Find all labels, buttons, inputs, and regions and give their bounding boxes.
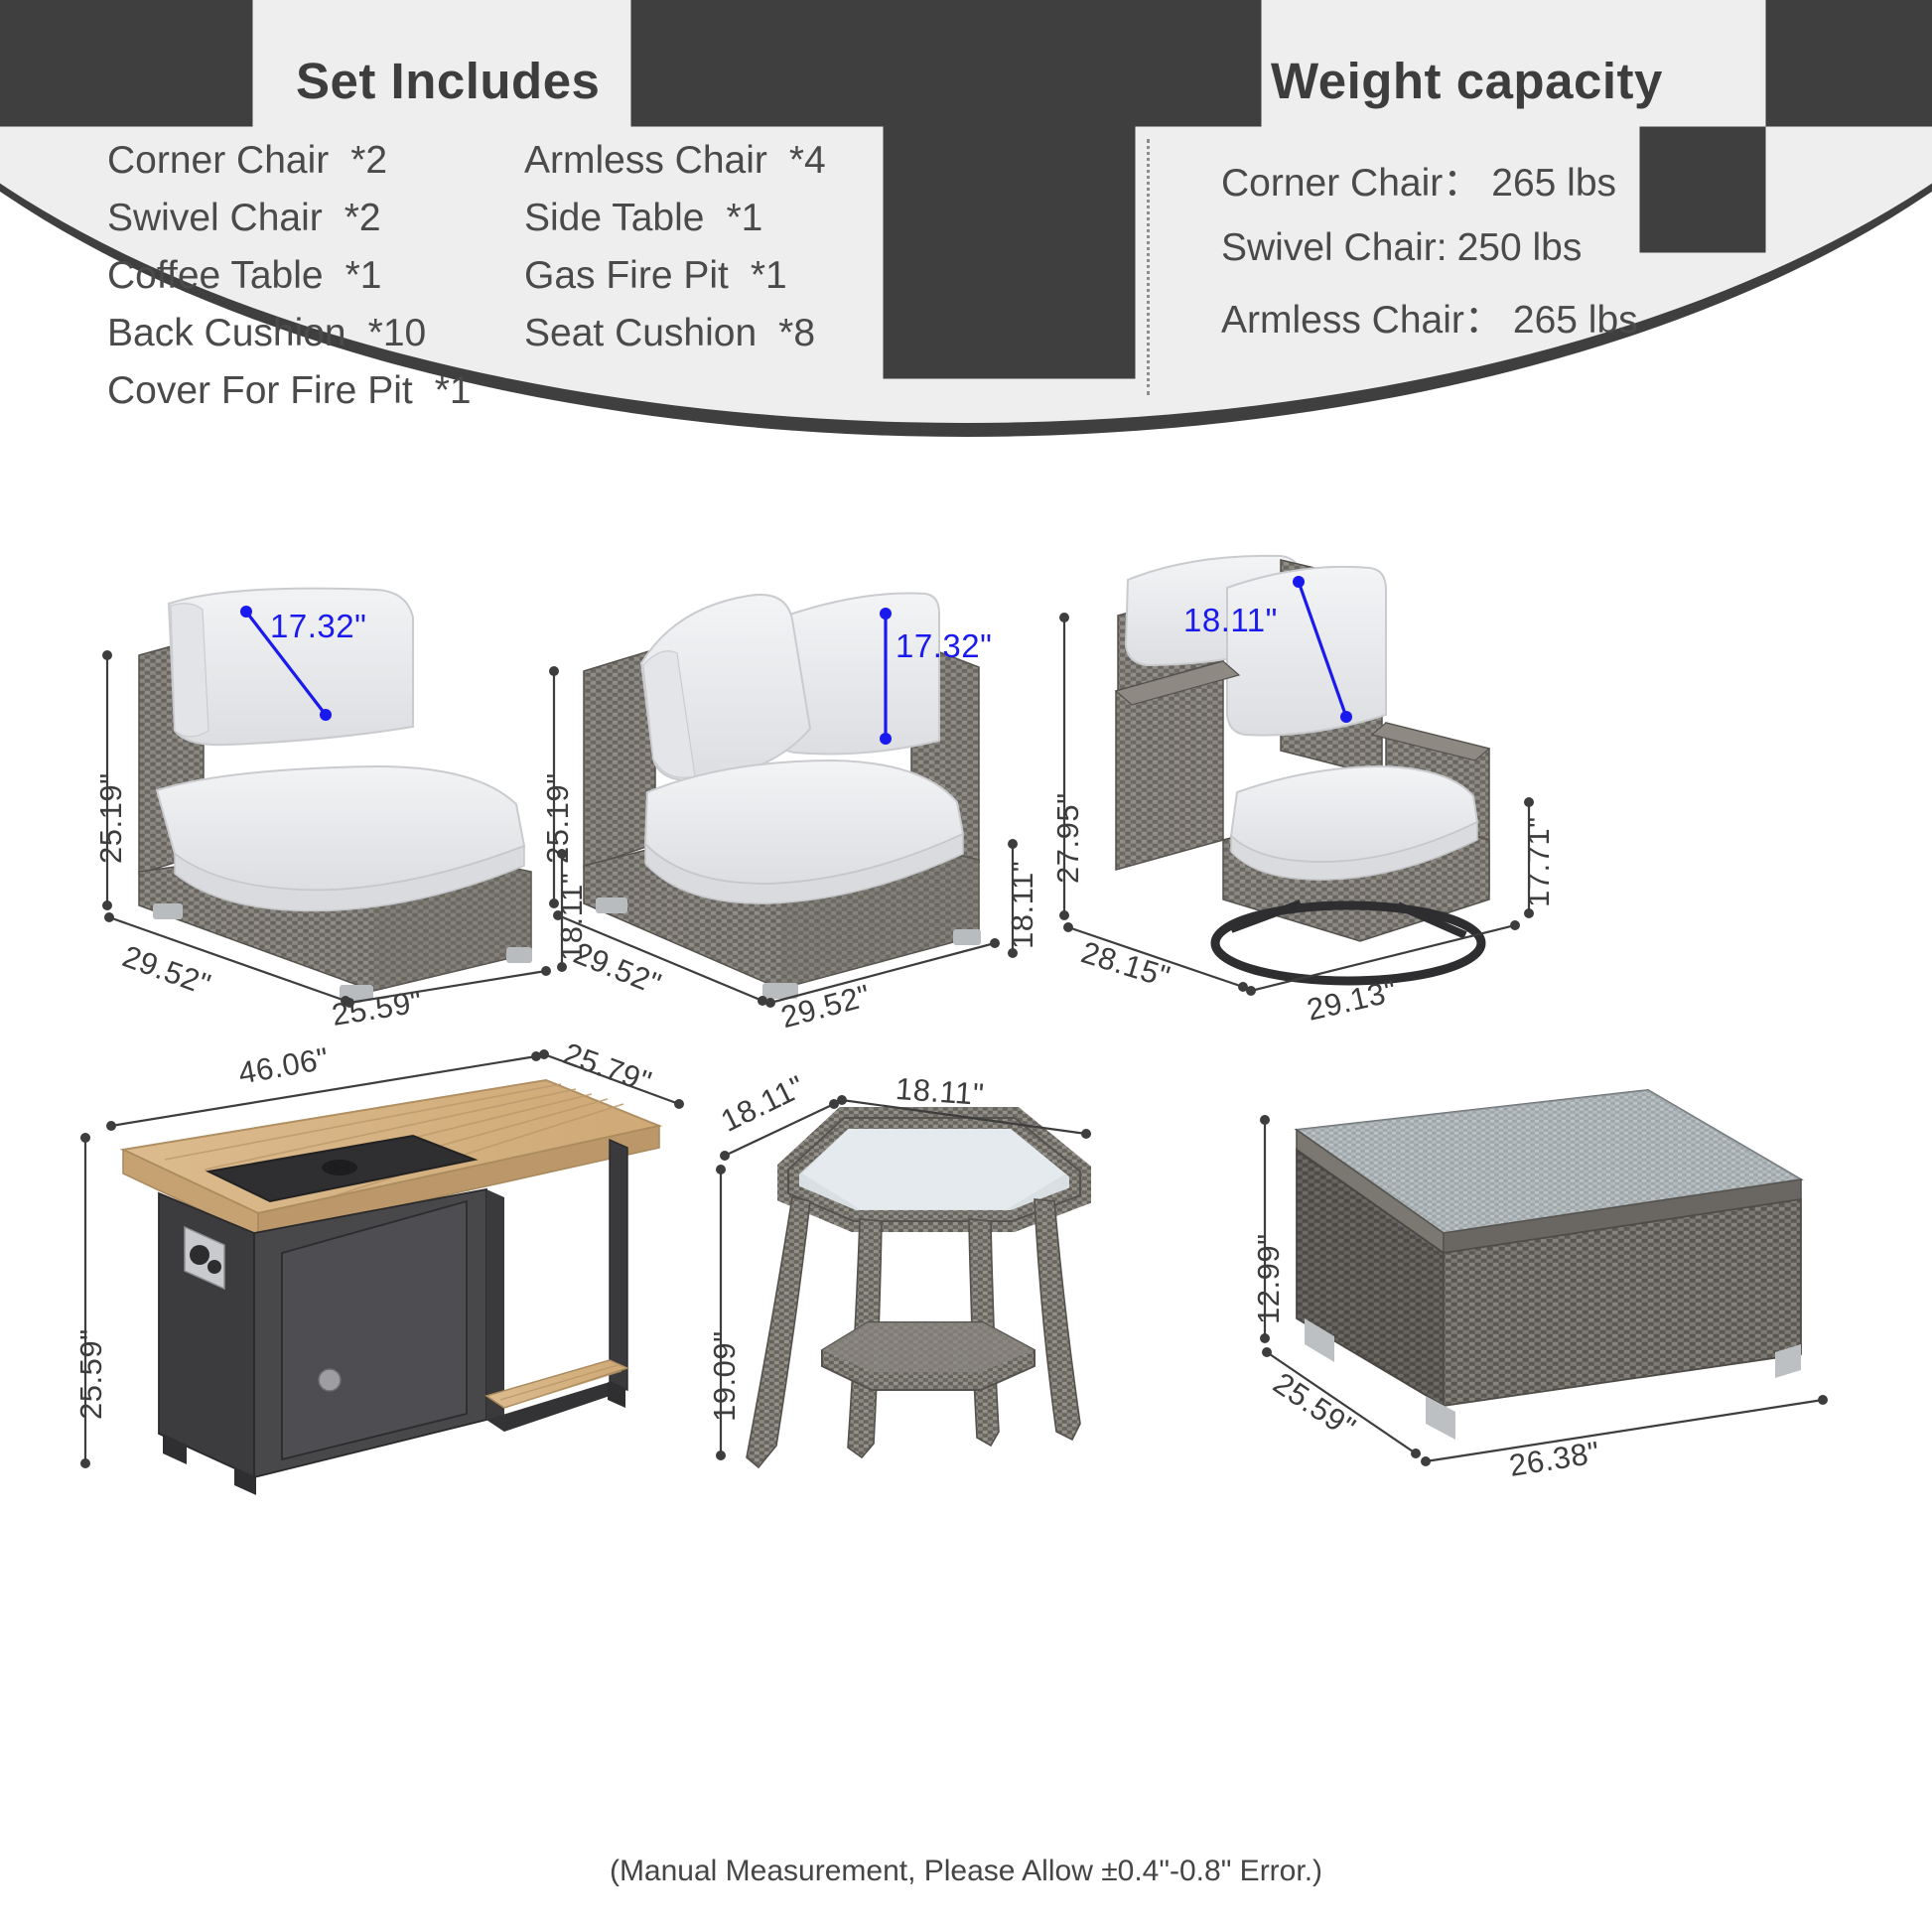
set-item-cover-for-fire-pit: Cover For Fire Pit *1 [107,369,524,413]
set-item-qty: *2 [350,139,387,183]
swivel-chair-seat-height-dimension: 17.71" [1521,816,1557,907]
product-side-table: 18.11" 18.11" 19.09" [685,1062,1152,1519]
weight-capacity-panel: Weight capacity Corner Chair ： 265 lbs S… [1221,52,1857,363]
swivel-chair-illustration [1033,546,1608,1013]
weight-row-value: 265 lbs [1513,299,1638,343]
set-item-qty: *4 [789,139,826,183]
set-item-label: Corner Chair [107,139,329,183]
header-banner: Set Includes Corner Chair *2 Armless Cha… [0,0,1932,496]
set-item-gas-fire-pit: Gas Fire Pit *1 [524,254,941,298]
product-coffee-table: 12.99" 25.59" 26.38" [1231,1072,1866,1509]
set-item-qty: *1 [726,197,762,240]
set-item-qty: *2 [345,197,381,240]
set-item-coffee-table: Coffee Table *1 [107,254,524,298]
weight-row-label: Swivel Chair [1221,226,1437,270]
coffee-table-height-dimension: 12.99" [1251,1233,1287,1324]
side-table-width-dimension: 18.11" [895,1071,986,1113]
weight-capacity-title: Weight capacity [1271,52,1857,110]
gas-fire-pit-table-illustration [60,1042,695,1509]
set-includes-row: Swivel Chair *2 Side Table *1 [107,197,1140,240]
side-table-height-dimension: 19.09" [707,1330,743,1422]
set-item-qty: *8 [778,312,815,355]
weight-capacity-list: Corner Chair ： 265 lbs Swivel Chair : 25… [1221,152,1857,345]
product-corner-chair: 17.32" 25.19" 18.11" 29.52" 29.52" [536,546,1092,1013]
armless-chair-cushion-dimension: 17.32" [270,608,366,645]
set-item-qty: *1 [751,254,787,298]
weight-row-separator: : [1437,226,1448,270]
set-item-back-cushion: Back Cushion *10 [107,312,524,355]
side-table-illustration [685,1062,1152,1519]
set-includes-panel: Set Includes Corner Chair *2 Armless Cha… [107,52,1140,413]
set-includes-row: Corner Chair *2 Armless Chair *4 [107,139,1140,183]
set-item-qty: *10 [368,312,427,355]
fire-pit-table-height-dimension: 25.59" [73,1328,109,1420]
corner-chair-cushion-dimension: 17.32" [896,627,992,665]
set-item-label: Swivel Chair [107,197,323,240]
set-item-seat-cushion: Seat Cushion *8 [524,312,941,355]
armless-chair-height-dimension: 25.19" [93,772,129,864]
set-includes-row: Back Cushion *10 Seat Cushion *8 [107,312,1140,355]
corner-chair-height-dimension: 25.19" [540,772,576,864]
set-item-armless-chair: Armless Chair *4 [524,139,941,183]
weight-row-swivel-chair: Swivel Chair : 250 lbs [1221,226,1857,270]
set-item-label: Side Table [524,197,704,240]
weight-row-corner-chair: Corner Chair ： 265 lbs [1221,152,1857,207]
set-item-qty: *1 [435,369,472,413]
weight-row-separator: ： [1443,152,1481,207]
weight-row-separator: ： [1464,289,1503,345]
set-item-label: Back Cushion [107,312,346,355]
set-includes-row: Cover For Fire Pit *1 [107,369,1140,413]
product-armless-chair: 17.32" 25.19" 18.11" 29.52" 25.59" [79,556,596,1003]
product-swivel-chair: 18.11" 27.95" 17.71" 28.15" 29.13" [1033,546,1608,1013]
product-gas-fire-pit-table: 46.06" 25.79" 25.59" [60,1042,695,1509]
set-item-side-table: Side Table *1 [524,197,941,240]
set-item-corner-chair: Corner Chair *2 [107,139,524,183]
set-includes-list: Corner Chair *2 Armless Chair *4 Swivel … [107,139,1140,413]
product-dimension-grid: 17.32" 25.19" 18.11" 29.52" 25.59" [0,536,1932,1827]
measurement-disclaimer: (Manual Measurement, Please Allow ±0.4"-… [0,1855,1932,1888]
weight-row-value: 265 lbs [1491,162,1616,206]
set-item-qty: *1 [345,254,382,298]
set-item-label: Cover For Fire Pit [107,369,413,413]
set-item-label: Armless Chair [524,139,767,183]
set-includes-row: Coffee Table *1 Gas Fire Pit *1 [107,254,1140,298]
set-includes-title: Set Includes [296,52,1140,110]
set-item-label: Gas Fire Pit [524,254,729,298]
swivel-chair-height-dimension: 27.95" [1050,792,1086,884]
set-item-label: Seat Cushion [524,312,757,355]
weight-row-label: Corner Chair [1221,162,1443,206]
header-section-divider [1147,139,1150,395]
weight-row-armless-chair: Armless Chair ： 265 lbs [1221,289,1857,345]
set-item-swivel-chair: Swivel Chair *2 [107,197,524,240]
set-item-label: Coffee Table [107,254,324,298]
swivel-chair-cushion-dimension: 18.11" [1183,602,1278,639]
weight-row-label: Armless Chair [1221,299,1464,343]
banner-content: Set Includes Corner Chair *2 Armless Cha… [0,0,1932,457]
weight-row-value: 250 lbs [1457,226,1583,270]
